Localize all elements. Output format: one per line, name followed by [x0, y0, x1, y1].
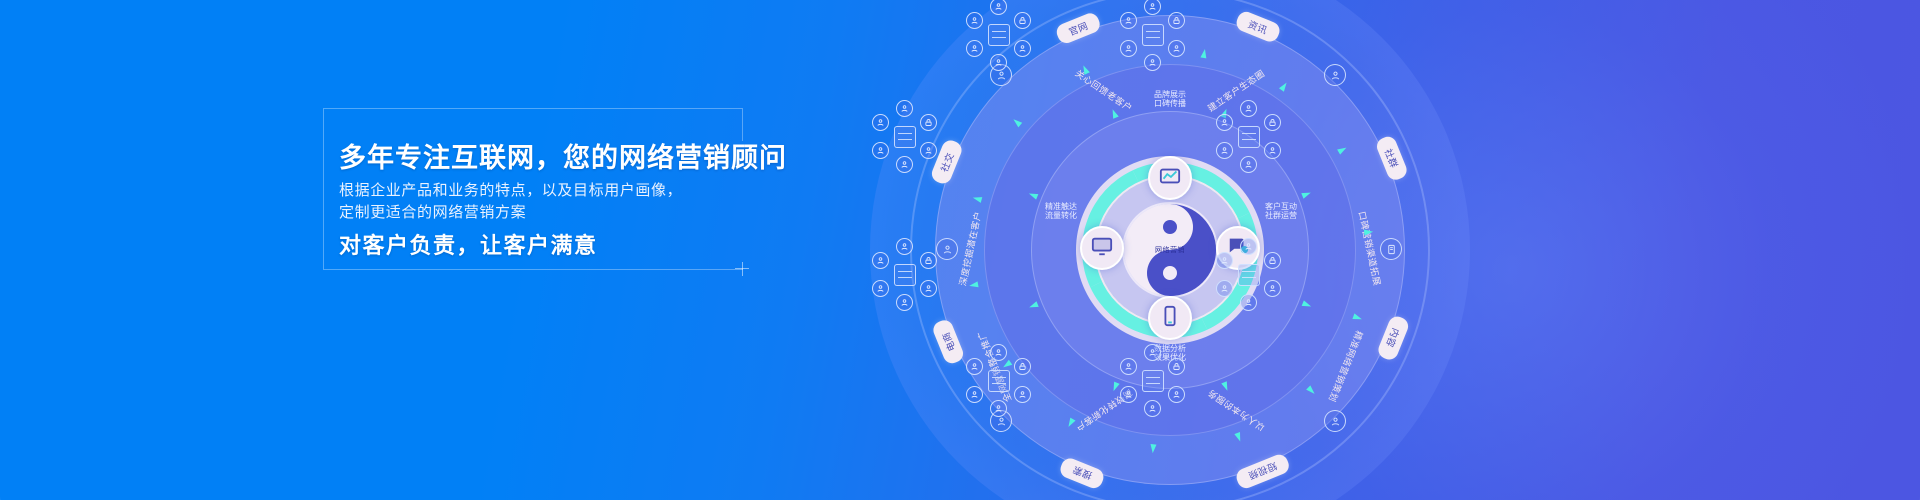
node-cluster-right — [1212, 100, 1286, 174]
cluster-node — [920, 142, 937, 159]
cluster-node — [1240, 294, 1257, 311]
sub-copy: 根据企业产品和业务的特点，以及目标用户画像， 定制更适合的网络营销方案 — [339, 180, 682, 224]
mobile-icon — [1159, 305, 1181, 332]
cluster-node — [990, 54, 1007, 71]
sub-copy-line-2: 定制更适合的网络营销方案 — [339, 202, 682, 224]
cluster-node — [1168, 358, 1185, 375]
cluster-node — [966, 386, 983, 403]
yin-yang-dot-dark — [1163, 220, 1177, 234]
cluster-node — [1168, 12, 1185, 29]
node-cluster-left — [868, 100, 942, 174]
cluster-hub — [1142, 24, 1164, 46]
inner-label-1: 客户互动社群运营 — [1246, 202, 1316, 220]
cluster-node — [966, 12, 983, 29]
cluster-hub — [988, 370, 1010, 392]
inner-label-3: 精准触达流量转化 — [1026, 202, 1096, 220]
node-cluster-bottom-center-right — [1116, 344, 1190, 418]
satellite-user-icon-ne — [1324, 64, 1346, 86]
cluster-hub — [1238, 264, 1260, 286]
frame-corner-tick — [735, 262, 749, 276]
cluster-node — [1240, 238, 1257, 255]
cluster-node — [872, 252, 889, 269]
cluster-node — [896, 156, 913, 173]
yin-yang-dot-light — [1163, 266, 1177, 280]
cluster-node — [872, 142, 889, 159]
cluster-node — [1144, 400, 1161, 417]
tagline: 对客户负责，让客户满意 — [339, 228, 598, 260]
cluster-node — [1216, 142, 1233, 159]
cluster-node — [1014, 12, 1031, 29]
cluster-node — [1264, 142, 1281, 159]
node-cluster-top-left — [962, 0, 1036, 72]
pod-chart[interactable] — [1148, 156, 1192, 200]
cluster-node — [990, 344, 1007, 361]
cluster-node — [1264, 252, 1281, 269]
cluster-node — [1144, 344, 1161, 361]
satellite-doc-icon-right — [1380, 238, 1402, 260]
hero-banner: 多年专注互联网，您的网络营销顾问 根据企业产品和业务的特点，以及目标用户画像， … — [0, 0, 1920, 500]
cluster-node — [1120, 386, 1137, 403]
node-cluster-bottom-center-left — [962, 344, 1036, 418]
cluster-node — [920, 114, 937, 131]
satellite-user-icon-se — [1324, 410, 1346, 432]
cluster-hub — [894, 264, 916, 286]
cluster-node — [920, 280, 937, 297]
cluster-node — [1216, 280, 1233, 297]
cluster-hub — [1238, 126, 1260, 148]
cluster-node — [896, 100, 913, 117]
cluster-node — [1120, 40, 1137, 57]
cluster-node — [920, 252, 937, 269]
cluster-hub — [1142, 370, 1164, 392]
pod-monitor[interactable] — [1080, 226, 1124, 270]
cluster-node — [1014, 358, 1031, 375]
cluster-node — [1216, 114, 1233, 131]
cluster-node — [872, 114, 889, 131]
monitor-icon — [1091, 235, 1113, 262]
cluster-node — [1014, 386, 1031, 403]
cluster-node — [896, 238, 913, 255]
cluster-hub — [894, 126, 916, 148]
cluster-node — [1120, 12, 1137, 29]
node-cluster-bottom-right — [1212, 238, 1286, 312]
cluster-node — [990, 0, 1007, 15]
cluster-node — [1014, 40, 1031, 57]
cluster-node — [966, 358, 983, 375]
node-cluster-bottom-left — [868, 238, 942, 312]
cluster-node — [1120, 358, 1137, 375]
cluster-node — [896, 294, 913, 311]
cluster-node — [1168, 40, 1185, 57]
sub-copy-line-1: 根据企业产品和业务的特点，以及目标用户画像， — [339, 180, 682, 202]
cluster-node — [966, 40, 983, 57]
cluster-node — [1264, 280, 1281, 297]
cluster-node — [1216, 252, 1233, 269]
cluster-node — [872, 280, 889, 297]
cluster-node — [990, 400, 1007, 417]
cluster-node — [1144, 54, 1161, 71]
inner-label-0: 品牌展示口碑传播 — [1135, 90, 1205, 108]
cluster-node — [1264, 114, 1281, 131]
chart-icon — [1159, 165, 1181, 192]
cluster-node — [1168, 386, 1185, 403]
cluster-node — [1240, 156, 1257, 173]
node-cluster-top-right — [1116, 0, 1190, 72]
pod-mobile[interactable] — [1148, 296, 1192, 340]
headline: 多年专注互联网，您的网络营销顾问 — [339, 136, 787, 175]
wheel-center-label: 网络营销 — [1155, 245, 1185, 255]
cluster-node — [1144, 0, 1161, 15]
cluster-node — [1240, 100, 1257, 117]
cluster-hub — [988, 24, 1010, 46]
marketing-wheel-graphic: 网络营销 — [860, 0, 1480, 500]
